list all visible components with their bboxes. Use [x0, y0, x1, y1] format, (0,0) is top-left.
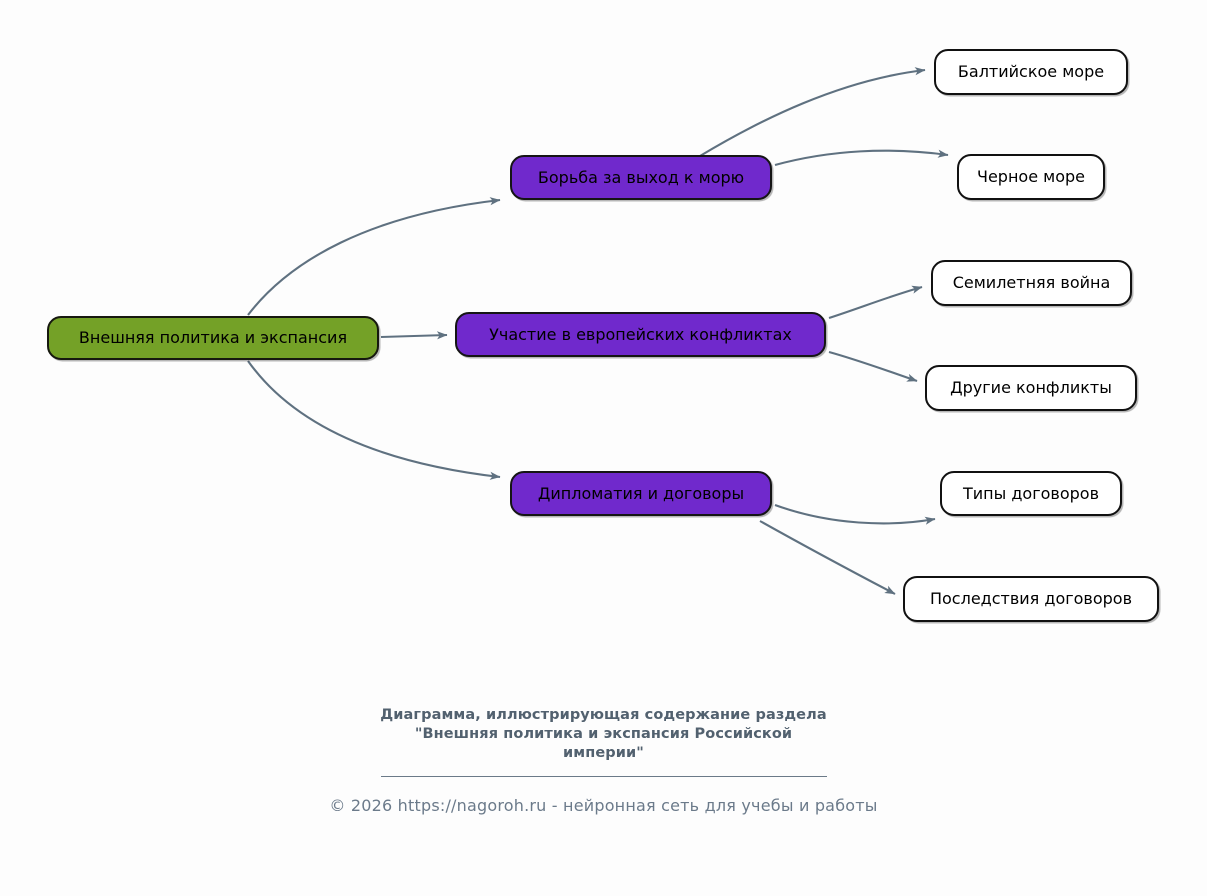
node-leaf-otherconf[interactable]: Другие конфликты — [925, 365, 1137, 411]
caption-line-2: "Внешняя политика и экспансия Российской — [0, 725, 1207, 744]
node-branch-diplomacy[interactable]: Дипломатия и договоры — [510, 471, 772, 516]
node-leaf-treatytypes[interactable]: Типы договоров — [940, 471, 1122, 516]
node-leaf-treatycons-label: Последствия договоров — [916, 591, 1146, 607]
node-leaf-black-label: Черное море — [963, 169, 1099, 185]
node-leaf-sevenyears-label: Семилетняя война — [939, 275, 1125, 291]
edge-root-to-diplomacy — [248, 361, 500, 477]
caption-title: Диаграмма, иллюстрирующая содержание раз… — [0, 706, 1207, 763]
caption-line-3: империи" — [0, 744, 1207, 763]
node-root[interactable]: Внешняя политика и экспансия — [47, 316, 379, 360]
node-branch-sea-label: Борьба за выход к морю — [524, 170, 758, 186]
node-leaf-black[interactable]: Черное море — [957, 154, 1105, 200]
node-leaf-sevenyears[interactable]: Семилетняя война — [931, 260, 1132, 306]
edge-sea-to-black — [775, 151, 948, 165]
caption-divider — [381, 776, 827, 777]
node-root-label: Внешняя политика и экспансия — [65, 330, 361, 346]
caption-footer: © 2026 https://nagoroh.ru - нейронная се… — [0, 796, 1207, 815]
node-leaf-treatycons[interactable]: Последствия договоров — [903, 576, 1159, 622]
caption-line-1: Диаграмма, иллюстрирующая содержание раз… — [0, 706, 1207, 725]
node-branch-europe-label: Участие в европейских конфликтах — [475, 327, 806, 343]
node-branch-sea[interactable]: Борьба за выход к морю — [510, 155, 772, 200]
node-leaf-otherconf-label: Другие конфликты — [936, 380, 1126, 396]
diagram-canvas: Внешняя политика и экспансия Борьба за в… — [0, 0, 1207, 896]
edge-europe-to-otherconf — [829, 352, 917, 381]
edge-diplomacy-to-treatycons — [760, 521, 895, 594]
caption-block: Диаграмма, иллюстрирующая содержание раз… — [0, 706, 1207, 815]
node-branch-diplomacy-label: Дипломатия и договоры — [524, 486, 758, 502]
node-branch-europe[interactable]: Участие в европейских конфликтах — [455, 312, 826, 357]
node-leaf-treatytypes-label: Типы договоров — [949, 486, 1113, 502]
edge-sea-to-baltic — [700, 70, 925, 156]
edge-root-to-europe — [381, 335, 447, 337]
edge-europe-to-sevenyears — [829, 287, 922, 318]
edge-root-to-sea — [248, 200, 500, 315]
node-leaf-baltic-label: Балтийское море — [944, 64, 1118, 80]
node-leaf-baltic[interactable]: Балтийское море — [934, 49, 1128, 95]
edge-diplomacy-to-treatytypes — [775, 505, 935, 523]
